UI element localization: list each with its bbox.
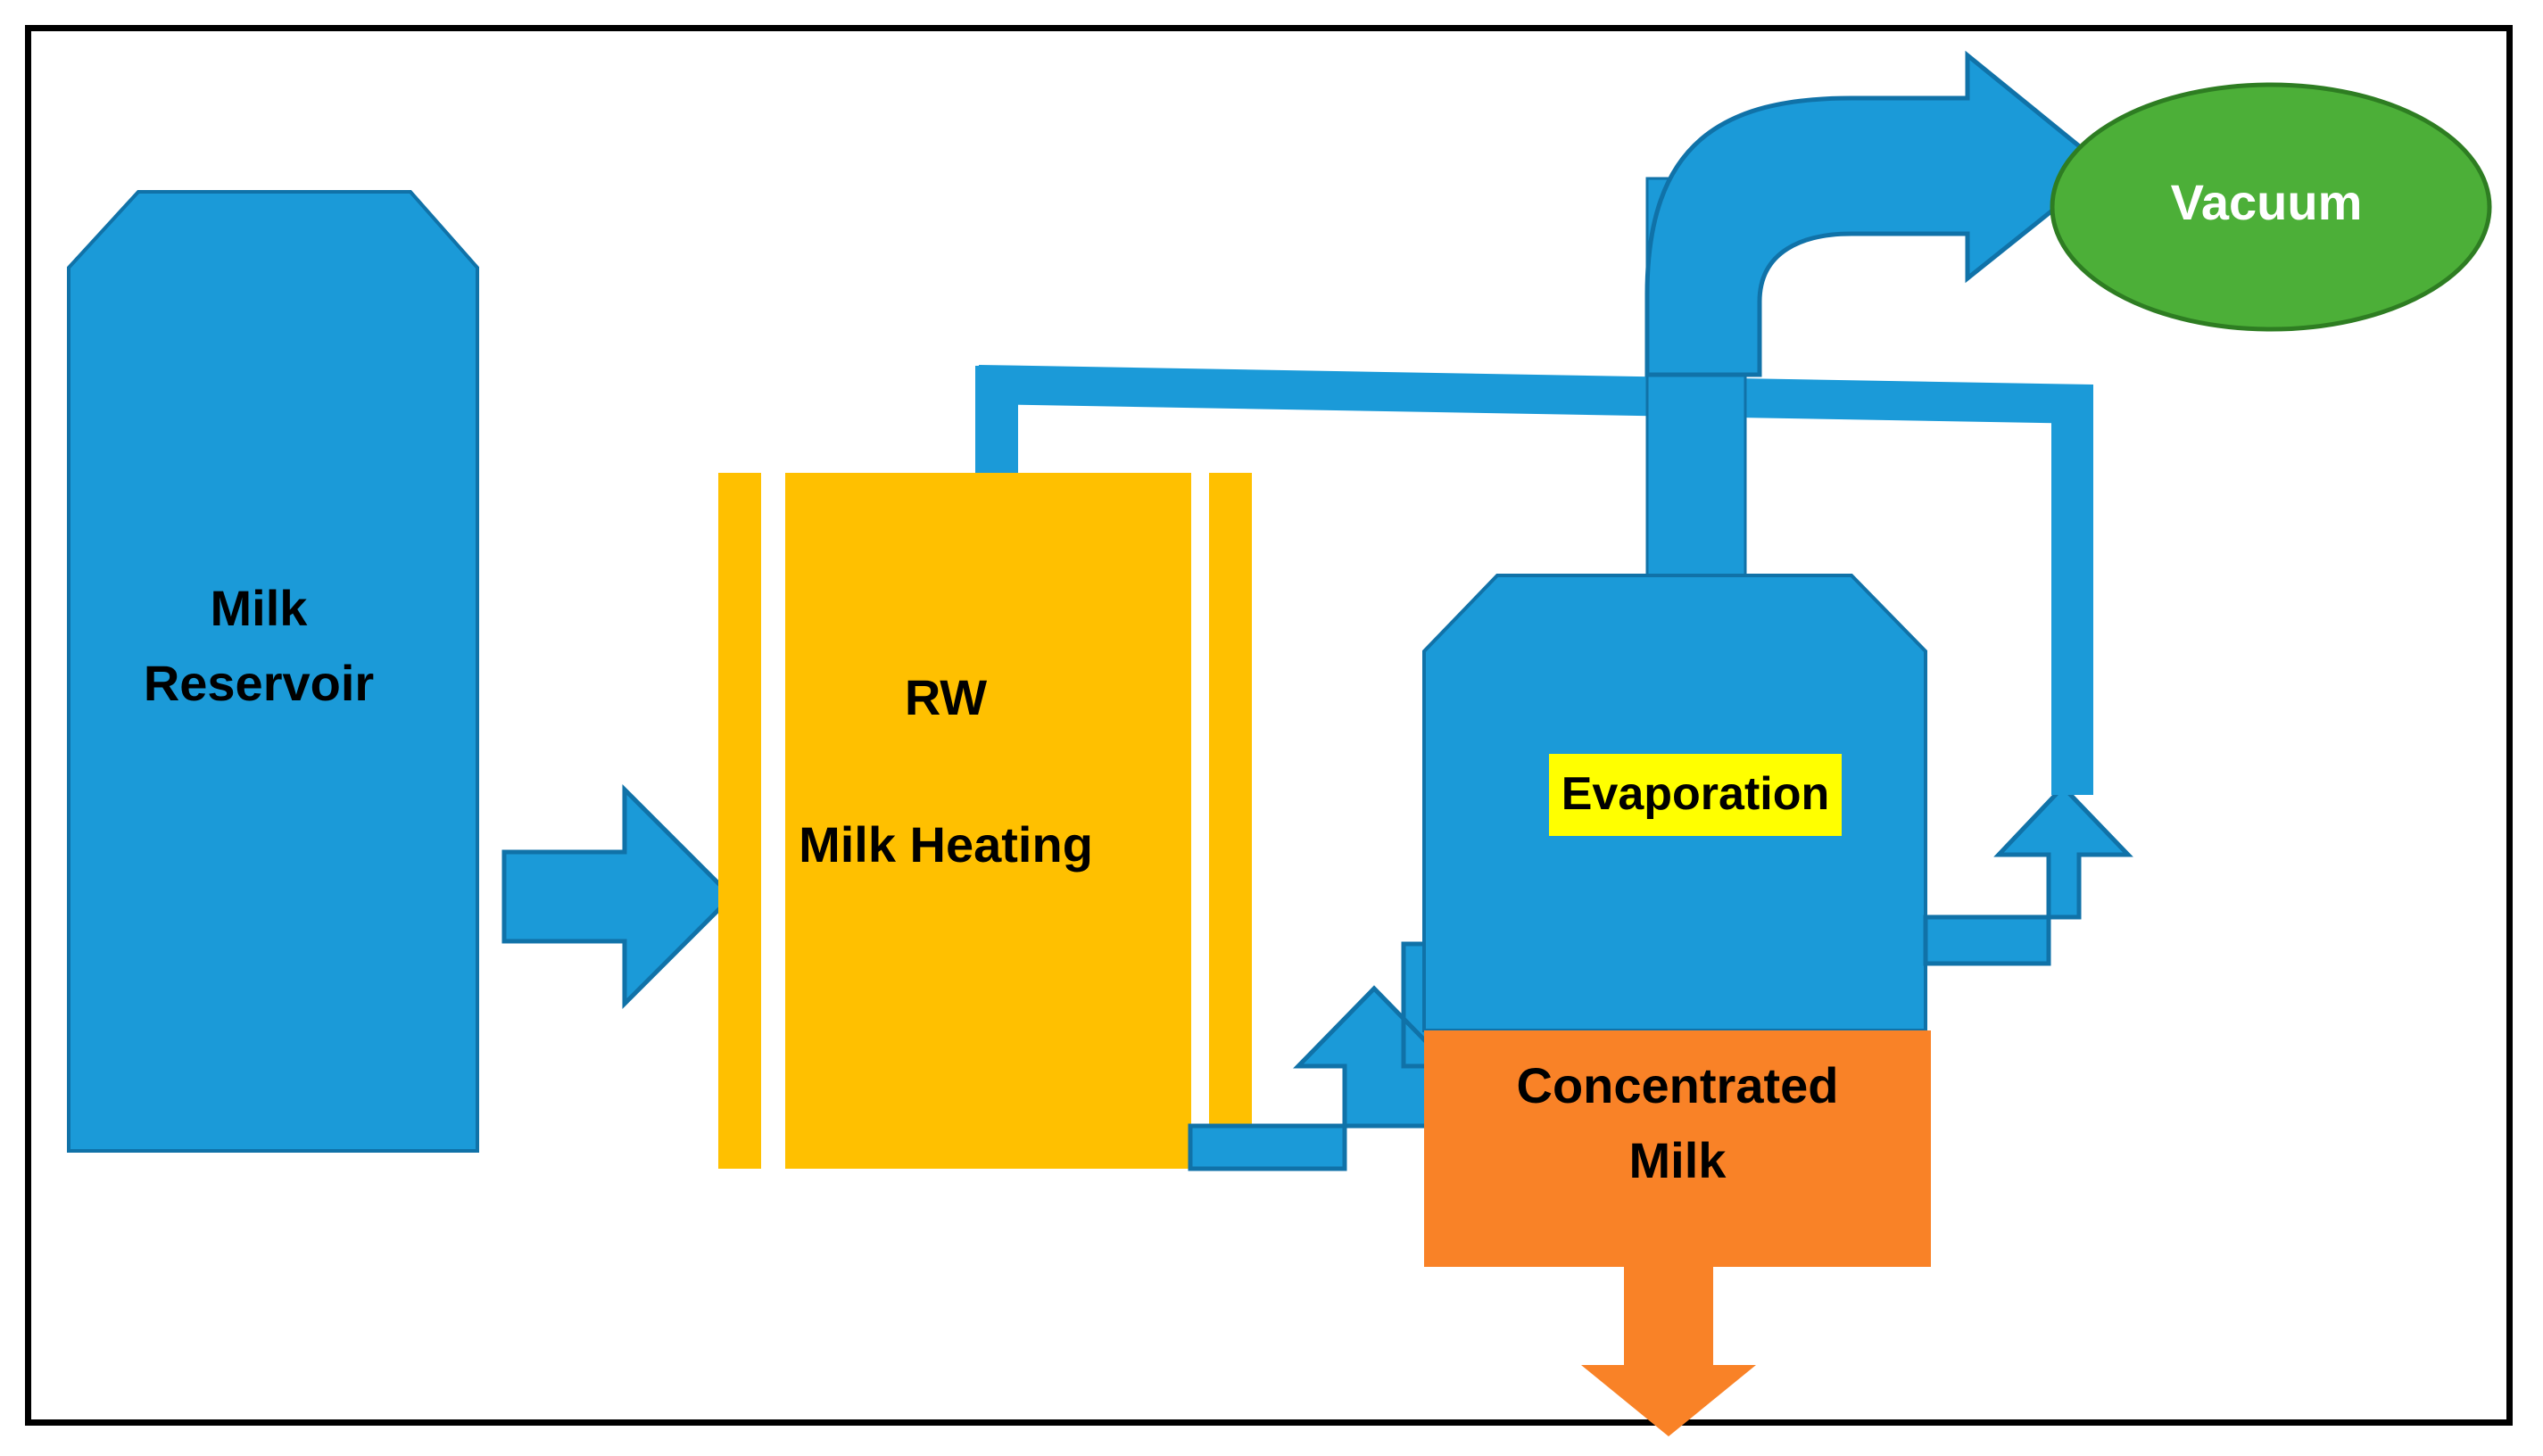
flow-evaporator-recycle-up-arrow: [1926, 385, 2134, 964]
node-vacuum[interactable]: [2052, 85, 2489, 329]
node-milk-heating[interactable]: [718, 473, 1252, 1169]
diagram-canvas: Milk Reservoir RW Milk Heating Evaporati…: [0, 0, 2543, 1456]
flow-evaporator-to-vacuum-arrow: [1647, 55, 2106, 375]
node-evaporation[interactable]: [1424, 575, 1926, 1030]
node-concentrated-milk[interactable]: [1424, 1030, 1931, 1436]
node-milk-reservoir[interactable]: [69, 192, 477, 1151]
flow-vapor-header-line: [980, 366, 2092, 423]
flow-reservoir-to-heater-arrow: [504, 790, 732, 1004]
process-flow-svg: [0, 0, 2543, 1456]
